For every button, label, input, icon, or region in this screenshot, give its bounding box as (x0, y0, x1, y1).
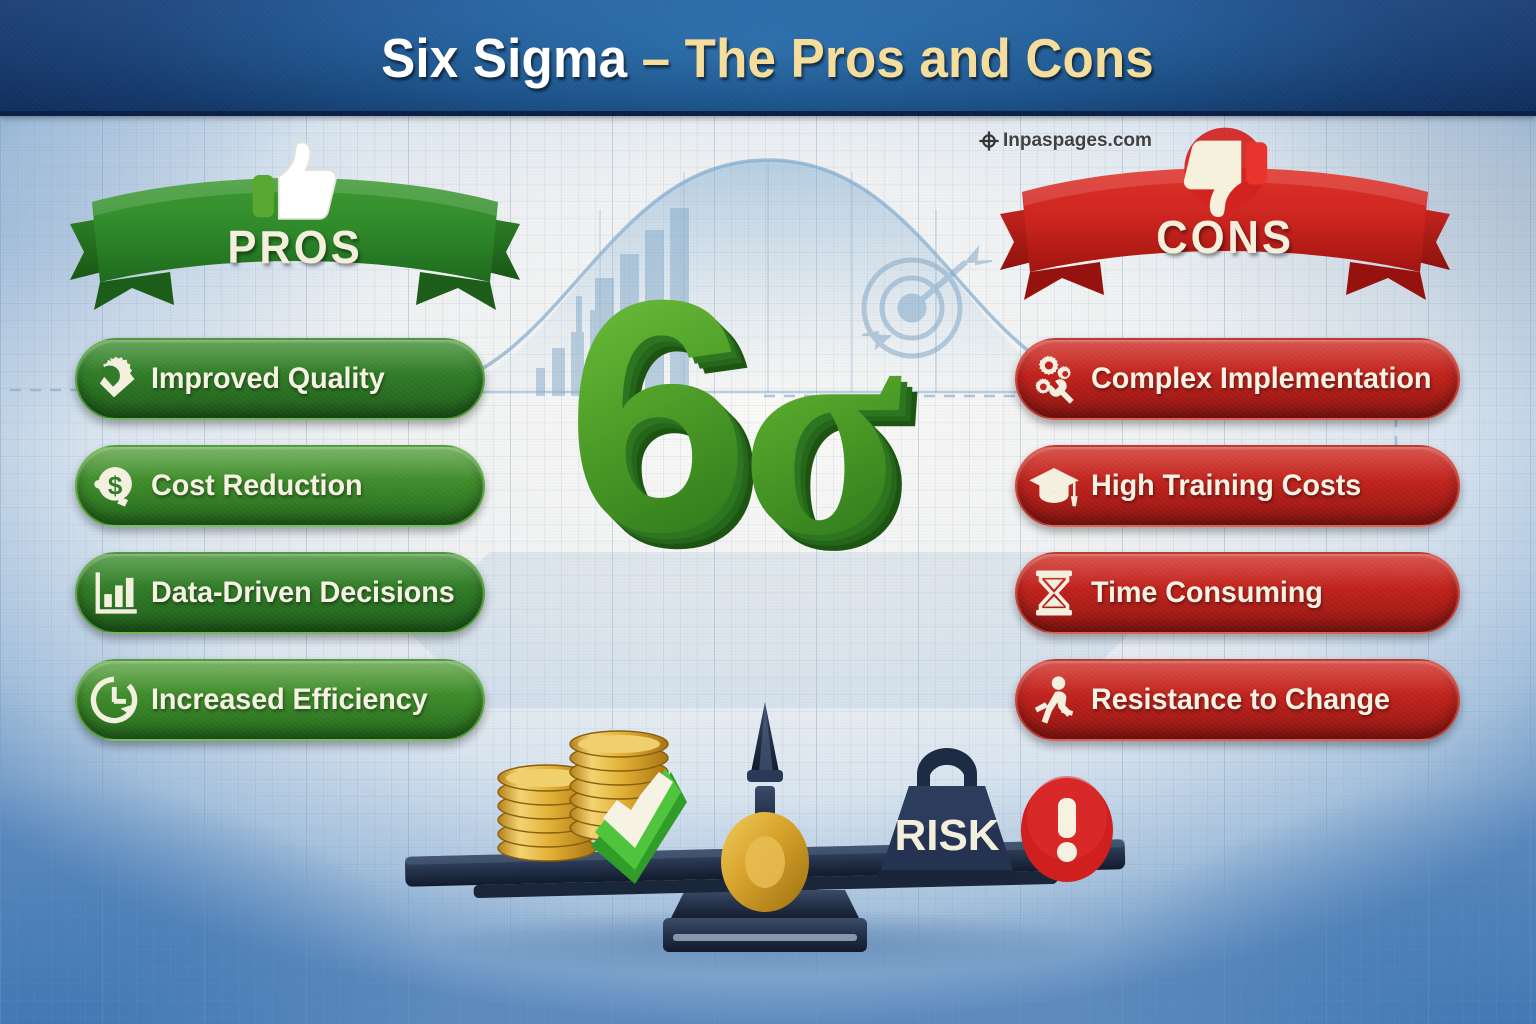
page-title-white: Six Sigma (382, 27, 643, 89)
cons-item-time-consuming[interactable]: Time Consuming (1015, 552, 1460, 634)
watermark-text: Inpaspages.com (1003, 130, 1152, 152)
pros-banner-label: PROS (81, 220, 509, 274)
cons-banner: CONS (1000, 152, 1450, 302)
page-title-gold: – The Pros and Cons (642, 27, 1154, 89)
six-sigma-symbol: 6 σ 6 σ 6 σ 6 σ (560, 230, 980, 620)
cons-item-complex-implementation[interactable]: Complex Implementation (1015, 338, 1460, 420)
graduation-cap-icon (1017, 459, 1091, 513)
pros-item-label: Data-Driven Decisions (151, 576, 455, 610)
watermark: Inpaspages.com (978, 130, 1152, 152)
gear-check-icon (77, 353, 151, 405)
gears-wrench-icon (1017, 352, 1091, 406)
cons-banner-label: CONS (1011, 210, 1439, 264)
crosshair-logo-icon (978, 130, 1000, 152)
pros-item-cost-reduction[interactable]: $ Cost Reduction (75, 445, 485, 527)
pros-item-data-driven-decisions[interactable]: Data-Driven Decisions (75, 552, 485, 634)
header-band: Six Sigma – The Pros and Cons (0, 0, 1536, 116)
cons-item-label: High Training Costs (1091, 469, 1361, 503)
page-title: Six Sigma – The Pros and Cons (382, 31, 1155, 86)
svg-text:6: 6 (566, 231, 750, 600)
clock-icon (77, 674, 151, 726)
six-sigma-3d-glyph: 6 σ 6 σ 6 σ 6 σ (560, 230, 980, 620)
balance-scale-icon: RISK (395, 690, 1135, 980)
pros-item-label: Improved Quality (151, 362, 385, 396)
risk-weight-icon: RISK (877, 748, 1017, 884)
cons-item-high-training-costs[interactable]: High Training Costs (1015, 445, 1460, 527)
cons-item-label: Resistance to Change (1091, 683, 1390, 717)
svg-text:$: $ (108, 471, 123, 501)
infographic-canvas: Six Sigma – The Pros and Cons Inpaspages… (0, 0, 1536, 1024)
cons-item-label: Complex Implementation (1091, 362, 1431, 396)
red-exclamation-icon (1021, 776, 1113, 882)
cons-item-label: Time Consuming (1091, 576, 1323, 610)
money-bag-dollar-icon: $ (77, 460, 151, 512)
balance-scale-illustration: RISK (395, 690, 1135, 980)
pros-item-label: Increased Efficiency (151, 683, 428, 717)
risk-weight-label: RISK (894, 811, 999, 860)
pros-item-improved-quality[interactable]: Improved Quality (75, 338, 485, 420)
pros-item-label: Cost Reduction (151, 469, 362, 503)
bar-chart-icon (77, 567, 151, 619)
pros-banner: PROS (70, 162, 520, 312)
svg-text:σ: σ (740, 265, 904, 597)
hourglass-icon (1017, 566, 1091, 620)
